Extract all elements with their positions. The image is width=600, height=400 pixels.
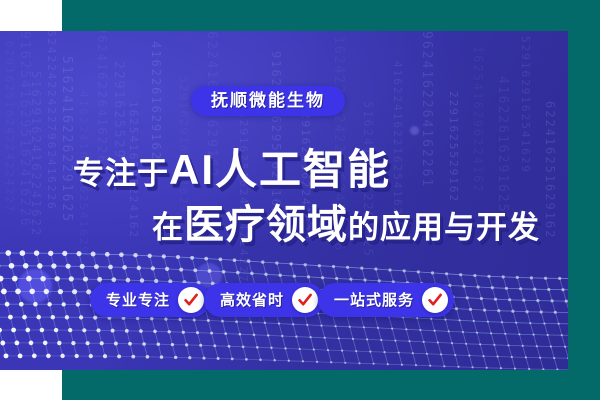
mesh-dot (117, 354, 121, 358)
mesh-dot (32, 354, 37, 359)
mesh-dot (185, 343, 188, 346)
mesh-dot (338, 337, 340, 339)
mesh-dot (405, 328, 407, 330)
mesh-dot (54, 328, 58, 332)
mesh-dot (0, 276, 4, 282)
headline: 专注于AI人工智能 在医疗领域的应用与开发 (0, 149, 568, 245)
check-icon (422, 287, 448, 313)
mesh-dot (504, 333, 506, 335)
mesh-dot (22, 315, 27, 320)
mesh-dot (558, 277, 561, 280)
mesh-dot (217, 357, 220, 360)
headline-line-1: 专注于AI人工智能 (73, 149, 568, 191)
mesh-dot (210, 332, 213, 335)
mesh-dot (264, 322, 266, 324)
mesh-dot (468, 354, 470, 356)
mesh-dot (497, 309, 500, 312)
mesh-dot (228, 345, 231, 348)
mesh-dot (306, 324, 308, 326)
mesh-dot (480, 297, 483, 300)
mesh-dot (108, 265, 113, 270)
mesh-dot (539, 357, 541, 359)
mesh-dot (536, 345, 538, 347)
mesh-dot (19, 302, 24, 307)
mesh-dot (403, 269, 406, 272)
mesh-dot (526, 310, 529, 313)
mesh-dot (373, 363, 375, 365)
mesh-dot (60, 354, 64, 358)
glow-dot (410, 126, 419, 135)
mesh-dot (416, 317, 418, 319)
mesh-dot (36, 315, 41, 320)
mesh-dot (309, 336, 311, 338)
check-icon (178, 287, 204, 313)
mesh-dot (66, 264, 71, 269)
mesh-dot (490, 332, 492, 334)
mesh-dot (479, 343, 481, 345)
mesh-dot (469, 308, 472, 311)
mesh-dot (515, 322, 517, 324)
mesh-dot (221, 320, 224, 323)
mesh-dot (279, 274, 282, 277)
mesh-dot (150, 317, 153, 320)
mesh-dot (440, 353, 442, 355)
mesh-dot (516, 276, 519, 279)
mesh-dot (278, 322, 280, 324)
mesh-dot (543, 322, 545, 324)
mesh-dot (462, 285, 465, 288)
mesh-dot (550, 345, 552, 347)
mesh-dot (171, 343, 174, 346)
mesh-dot (40, 328, 45, 333)
mesh-dot (270, 347, 272, 349)
mesh-dot (344, 362, 346, 364)
mesh-dot (239, 333, 242, 336)
mesh-dot (502, 275, 505, 278)
mesh-dot (501, 321, 503, 323)
mesh-dot (146, 355, 150, 359)
feature-pill-label: 高效省时 (220, 293, 284, 308)
mesh-dot (540, 310, 543, 313)
mesh-dot (133, 253, 137, 257)
mesh-dot (281, 335, 283, 337)
mesh-dot (0, 328, 2, 333)
mesh-dot (529, 322, 531, 324)
mesh-dot (547, 288, 550, 291)
mesh-dot (26, 276, 32, 282)
mesh-dot (23, 263, 29, 269)
mesh-dot (423, 341, 425, 343)
mesh-dot (444, 319, 446, 321)
mesh-dot (391, 328, 393, 330)
mesh-dot (530, 276, 533, 279)
mesh-dot (46, 354, 51, 359)
mesh-dot (176, 255, 180, 259)
mesh-dot (374, 267, 377, 270)
mesh-dot (430, 318, 432, 320)
mesh-dot (164, 317, 167, 320)
mesh-dot (487, 275, 490, 278)
mesh-dot (224, 332, 227, 335)
mesh-dot (519, 287, 522, 290)
mesh-dot (233, 258, 237, 262)
mesh-dot (105, 252, 110, 257)
mesh-dot (288, 360, 290, 362)
mesh-dot (299, 348, 301, 350)
mesh-dot (412, 352, 414, 354)
mesh-dot (182, 331, 185, 334)
mesh-dot (245, 358, 248, 361)
mesh-dot (139, 329, 143, 333)
headline-line1-prefix: 专注于 (73, 156, 169, 191)
mesh-dot (193, 268, 197, 272)
mesh-dot (508, 298, 511, 301)
mesh-dot (128, 342, 132, 346)
mesh-dot (242, 345, 245, 348)
mesh-dot (466, 296, 469, 299)
mesh-dot (324, 337, 326, 339)
headline-line2-suffix: 的应用与开发 (348, 210, 540, 245)
mesh-dot (295, 335, 297, 337)
mesh-dot (487, 321, 489, 323)
mesh-dot (491, 286, 494, 289)
mesh-dot (91, 252, 96, 257)
mesh-dot (352, 338, 354, 340)
mesh-dot (34, 250, 39, 255)
mesh-dot (15, 289, 21, 295)
banner-image: 6291625162422422422791625416295162416226… (0, 0, 600, 400)
mesh-dot (51, 263, 56, 268)
mesh-dot (451, 342, 453, 344)
mesh-dot (86, 341, 90, 345)
mesh-dot (419, 329, 421, 331)
mesh-line (0, 253, 568, 279)
white-corner-bottom-left (0, 370, 62, 400)
headline-line2-prefix: 在 (152, 210, 184, 245)
mesh-dot (1, 289, 7, 295)
mesh-dot (142, 342, 146, 346)
mesh-dot (445, 272, 448, 275)
mesh-dot (383, 351, 385, 353)
mesh-dot (11, 328, 16, 333)
mesh-dot (256, 346, 259, 349)
mesh-dot (318, 264, 321, 267)
check-icon (292, 287, 318, 313)
mesh-dot (188, 356, 191, 359)
mesh-dot (431, 271, 434, 274)
mesh-dot (9, 263, 15, 269)
mesh-dot (148, 254, 152, 258)
mesh-dot (96, 328, 100, 332)
mesh-dot (486, 367, 488, 369)
mesh-dot (250, 272, 253, 275)
mesh-dot (334, 325, 336, 327)
mesh-dot (426, 353, 428, 355)
mesh-dot (482, 355, 484, 357)
mesh-dot (82, 328, 86, 332)
mesh-dot (525, 356, 527, 358)
mesh-dot (44, 289, 49, 294)
mesh-dot (65, 315, 69, 319)
mesh-dot (37, 263, 42, 268)
mesh-dot (358, 362, 360, 364)
mesh-dot (235, 320, 238, 323)
banner-panel: 6291625162422422422791625416295162416226… (0, 31, 568, 370)
mesh-dot (289, 262, 292, 265)
mesh-dot (275, 261, 278, 264)
mesh-dot (316, 361, 318, 363)
mesh-dot (437, 341, 439, 343)
mesh-dot (483, 309, 486, 312)
mesh-dot (131, 355, 135, 359)
mesh-dot (202, 357, 205, 360)
mesh-dot (168, 330, 171, 333)
mesh-dot (415, 364, 417, 366)
mesh-dot (533, 334, 535, 336)
headline-line-2: 在医疗领域的应用与开发 (152, 205, 568, 245)
mesh-dot (119, 252, 124, 257)
mesh-dot (222, 270, 226, 274)
mesh-dot (377, 327, 379, 329)
mesh-dot (388, 268, 391, 271)
mesh-dot (459, 273, 462, 276)
mesh-dot (465, 343, 467, 345)
mesh-dot (369, 351, 371, 353)
mesh-dot (72, 289, 77, 294)
mesh-dot (473, 274, 476, 277)
mesh-dot (349, 278, 352, 281)
mesh-dot (394, 340, 396, 342)
mesh-dot (122, 265, 127, 270)
mesh-dot (151, 266, 155, 270)
mesh-dot (55, 276, 60, 281)
mesh-dot (293, 274, 296, 277)
headline-line1-highlight: AI人工智能 (169, 146, 391, 193)
feature-pill[interactable]: 专业专注 (90, 283, 210, 317)
mesh-dot (114, 342, 118, 346)
feature-pill-label: 一站式服务 (334, 293, 414, 308)
mesh-dot (366, 338, 368, 340)
mesh-dot (111, 329, 115, 333)
mesh-dot (511, 310, 514, 313)
mesh-dot (518, 333, 520, 335)
mesh-dot (207, 319, 210, 322)
mesh-dot (193, 318, 196, 321)
mesh-dot (40, 276, 45, 281)
mesh-dot (20, 250, 26, 256)
mesh-dot (12, 276, 18, 282)
mesh-dot (83, 277, 88, 282)
mesh-dot (125, 329, 129, 333)
mesh-dot (448, 284, 451, 287)
mesh-dot (162, 254, 166, 258)
mesh-dot (320, 324, 322, 326)
mesh-dot (346, 266, 349, 269)
mesh-dot (261, 260, 264, 263)
mesh-dot (500, 367, 502, 369)
mesh-dot (363, 278, 366, 281)
mesh-dot (401, 364, 403, 366)
mesh-dot (165, 267, 169, 271)
feature-pill-list: 专业专注高效省时一站式服务 (90, 283, 448, 317)
mesh-dot (455, 307, 458, 310)
mesh-dot (94, 264, 99, 269)
mesh-dot (208, 269, 212, 273)
mesh-dot (551, 299, 554, 302)
mesh-dot (567, 357, 568, 359)
mesh-dot (542, 368, 544, 370)
mesh-dot (0, 341, 5, 346)
mesh-dot (514, 368, 516, 370)
mesh-dot (284, 347, 286, 349)
mesh-dot (231, 358, 234, 361)
mesh-dot (536, 299, 539, 302)
mesh-dot (544, 277, 547, 280)
mesh-dot (80, 264, 85, 269)
mesh-dot (408, 340, 410, 342)
feature-pill-label: 专业专注 (106, 293, 170, 308)
mesh-dot (25, 328, 30, 333)
mesh-dot (8, 315, 13, 320)
mesh-dot (558, 323, 560, 325)
mesh-dot (332, 265, 335, 268)
mesh-dot (179, 318, 182, 321)
mesh-dot (507, 344, 509, 346)
mesh-dot (4, 353, 9, 358)
mesh-dot (457, 366, 459, 368)
mesh-dot (76, 251, 81, 256)
mesh-dot (264, 273, 267, 276)
mesh-dot (564, 346, 566, 348)
mesh-dot (330, 361, 332, 363)
mesh-dot (43, 341, 48, 346)
white-corner-top-left (0, 0, 62, 31)
mesh-dot (219, 258, 223, 262)
mesh-dot (51, 315, 55, 319)
mesh-dot (477, 285, 480, 288)
mesh-dot (355, 350, 357, 352)
mesh-dot (79, 315, 83, 319)
mesh-dot (494, 298, 497, 301)
mesh-dot (48, 251, 53, 256)
mesh-dot (556, 368, 558, 370)
mesh-dot (213, 344, 216, 347)
mesh-dot (100, 341, 104, 345)
mesh-dot (111, 277, 116, 282)
mesh-dot (434, 330, 436, 332)
mesh-dot (29, 289, 35, 295)
mesh-dot (417, 270, 420, 273)
mesh-dot (554, 311, 557, 314)
mesh-dot (62, 302, 66, 306)
mesh-dot (454, 354, 456, 356)
mesh-dot (547, 334, 549, 336)
mesh-dot (360, 267, 363, 270)
mesh-dot (561, 288, 564, 291)
mesh-dot (190, 256, 194, 260)
mesh-dot (5, 250, 11, 256)
mesh-dot (553, 357, 555, 359)
mesh-dot (68, 328, 72, 332)
mesh-dot (199, 344, 202, 347)
mesh-dot (462, 331, 464, 333)
mesh-dot (174, 356, 177, 359)
mesh-dot (380, 339, 382, 341)
mesh-dot (493, 344, 495, 346)
mesh-dot (58, 289, 63, 294)
mesh-dot (448, 330, 450, 332)
mesh-dot (327, 349, 329, 351)
mesh-dot (321, 276, 324, 279)
mesh-dot (341, 349, 343, 351)
mesh-dot (497, 355, 499, 357)
mesh-dot (75, 354, 79, 358)
mesh-dot (561, 334, 563, 336)
mesh-dot (253, 334, 256, 337)
mesh-dot (18, 354, 23, 359)
mesh-dot (204, 257, 208, 261)
mesh-dot (302, 360, 304, 362)
mesh-dot (505, 287, 508, 290)
mesh-dot (160, 355, 163, 358)
mesh-dot (69, 276, 74, 281)
brand-badge: 抚顺微能生物 (191, 86, 345, 116)
mesh-dot (136, 317, 140, 321)
mesh-dot (103, 354, 107, 358)
mesh-dot (349, 326, 351, 328)
mesh-dot (179, 268, 183, 272)
headline-line2-highlight: 医疗领域 (184, 203, 348, 247)
mesh-dot (565, 300, 568, 303)
mesh-dot (57, 341, 61, 345)
mesh-dot (443, 365, 445, 367)
mesh-dot (292, 323, 294, 325)
mesh-dot (528, 368, 530, 370)
mesh-dot (522, 299, 525, 302)
mesh-dot (307, 275, 310, 278)
brand-badge-label: 抚顺微能生物 (211, 92, 325, 109)
mesh-dot (472, 366, 474, 368)
mesh-dot (363, 326, 365, 328)
mesh-dot (76, 302, 80, 306)
mesh-dot (511, 356, 513, 358)
mesh-dot (71, 341, 75, 345)
mesh-dot (522, 345, 524, 347)
mesh-dot (459, 319, 461, 321)
mesh-dot (267, 334, 269, 336)
mesh-dot (259, 359, 262, 362)
mesh-dot (473, 320, 475, 322)
mesh-dot (97, 277, 102, 282)
mesh-dot (15, 341, 20, 346)
mesh-dot (387, 363, 389, 365)
mesh-dot (33, 302, 38, 307)
mesh-dot (273, 359, 275, 361)
mesh-dot (250, 321, 253, 324)
mesh-dot (335, 277, 338, 280)
mesh-dot (5, 302, 10, 307)
mesh-dot (304, 263, 307, 266)
feature-pill[interactable]: 一站式服务 (318, 283, 454, 317)
mesh-dot (429, 365, 431, 367)
mesh-dot (236, 271, 240, 275)
mesh-dot (196, 331, 199, 334)
mesh-dot (476, 332, 478, 334)
mesh-dot (89, 354, 93, 358)
feature-pill[interactable]: 高效省时 (204, 283, 324, 317)
mesh-dot (126, 278, 131, 283)
mesh-dot (313, 348, 315, 350)
